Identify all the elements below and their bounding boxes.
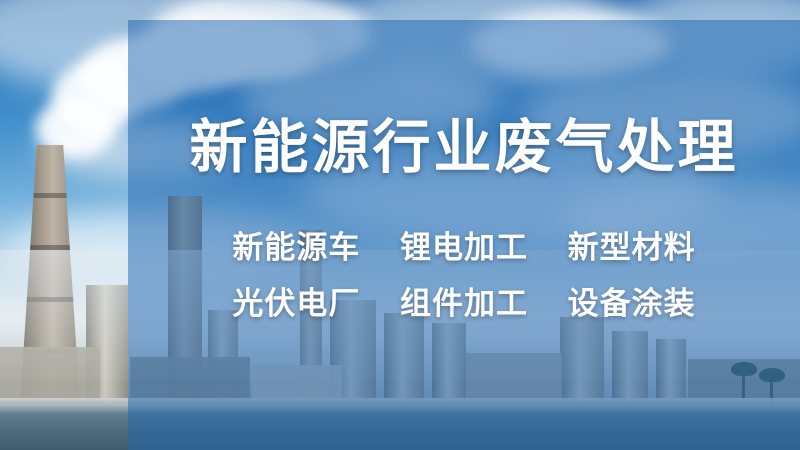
subtitle-line-1: 新能源车 锂电加工 新型材料 bbox=[128, 222, 800, 267]
subtitle-item: 组件加工 bbox=[400, 286, 528, 322]
subtitle-item: 光伏电厂 bbox=[232, 286, 360, 322]
plant-building bbox=[0, 347, 100, 405]
subtitle-item: 新能源车 bbox=[232, 230, 360, 266]
subtitle-item: 锂电加工 bbox=[400, 230, 528, 266]
banner-image: 新能源行业废气处理 新能源车 锂电加工 新型材料 光伏电厂 组件加工 设备涂装 bbox=[0, 0, 800, 450]
subtitle-line-2: 光伏电厂 组件加工 设备涂装 bbox=[128, 278, 800, 323]
subtitle-item: 设备涂装 bbox=[568, 286, 696, 322]
subtitle-item: 新型材料 bbox=[568, 230, 696, 266]
page-title: 新能源行业废气处理 bbox=[128, 118, 800, 176]
